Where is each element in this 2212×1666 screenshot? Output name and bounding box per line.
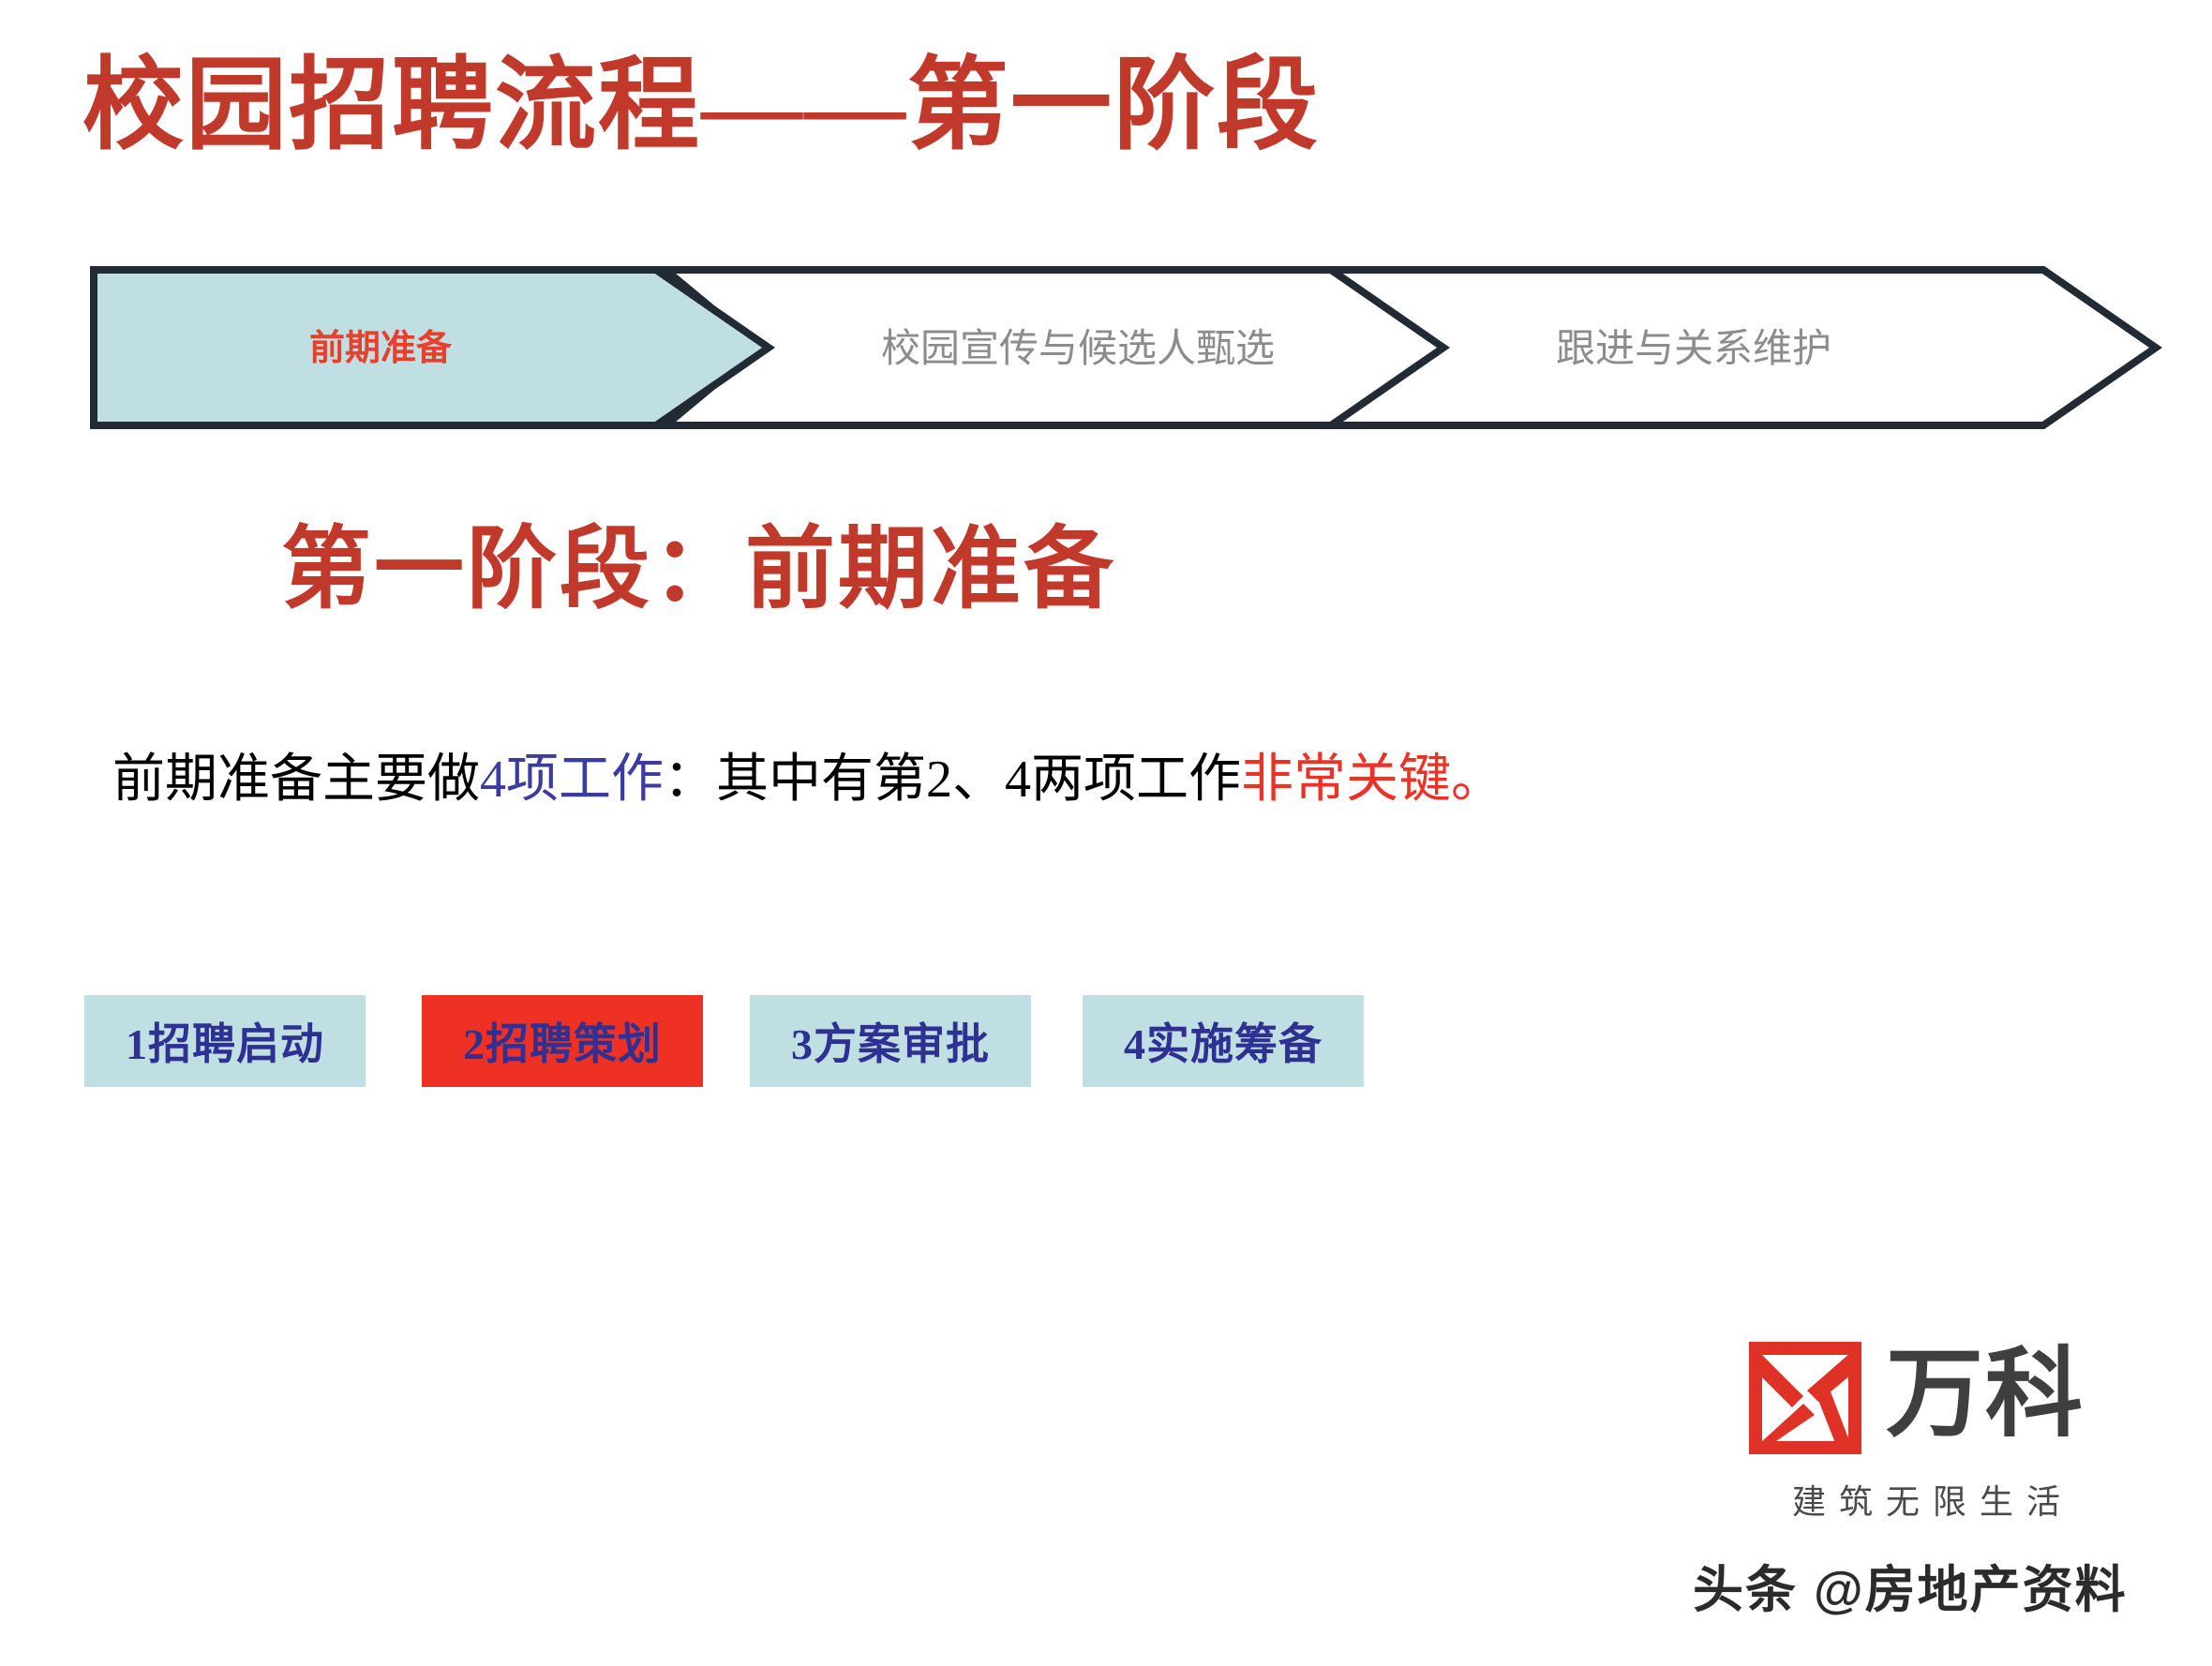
body-segment-plain-1: 前期准备主要做 (112, 751, 480, 809)
body-segment-highlight-critical: 非常关键。 (1241, 751, 1503, 809)
process-step-2[interactable]: 校园宣传与候选人甄选 (665, 270, 1443, 425)
page-title: 校园招聘流程——第一阶段 (82, 43, 1320, 170)
process-step-1-label: 前期准备 (309, 329, 453, 368)
step-chip-4[interactable]: 4实施筹备 (1083, 995, 1364, 1087)
process-step-2-label: 校园宣传与候选人甄选 (881, 328, 1275, 371)
stage-heading: 第一阶段：前期准备 (281, 513, 1116, 626)
brand-logo: 万科 建筑无限生活 (1745, 1338, 2120, 1525)
body-paragraph: 前期准备主要做4项工作：其中有第2、4两项工作非常关键。 (112, 746, 1503, 814)
body-segment-highlight-count: 4项工作 (480, 751, 664, 809)
process-step-1[interactable]: 前期准备 (94, 270, 769, 425)
body-segment-plain-2: ：其中有第2、4两项工作 (664, 751, 1241, 809)
watermark: 头条 @房地产资料 (1693, 1548, 2128, 1622)
process-flow-band: 跟进与关系维护 校园宣传与候选人甄选 前期准备 (0, 259, 2212, 437)
brand-wordmark: 万科 (1886, 1346, 2085, 1443)
process-step-3-label: 跟进与关系维护 (1556, 328, 1831, 371)
vanke-mark-icon (1745, 1338, 1865, 1458)
brand-tagline: 建筑无限生活 (1747, 1475, 2118, 1524)
step-chip-1[interactable]: 1招聘启动 (84, 995, 366, 1087)
step-chip-2[interactable]: 2招聘策划 (422, 995, 703, 1087)
step-chip-3[interactable]: 3方案审批 (750, 995, 1031, 1087)
